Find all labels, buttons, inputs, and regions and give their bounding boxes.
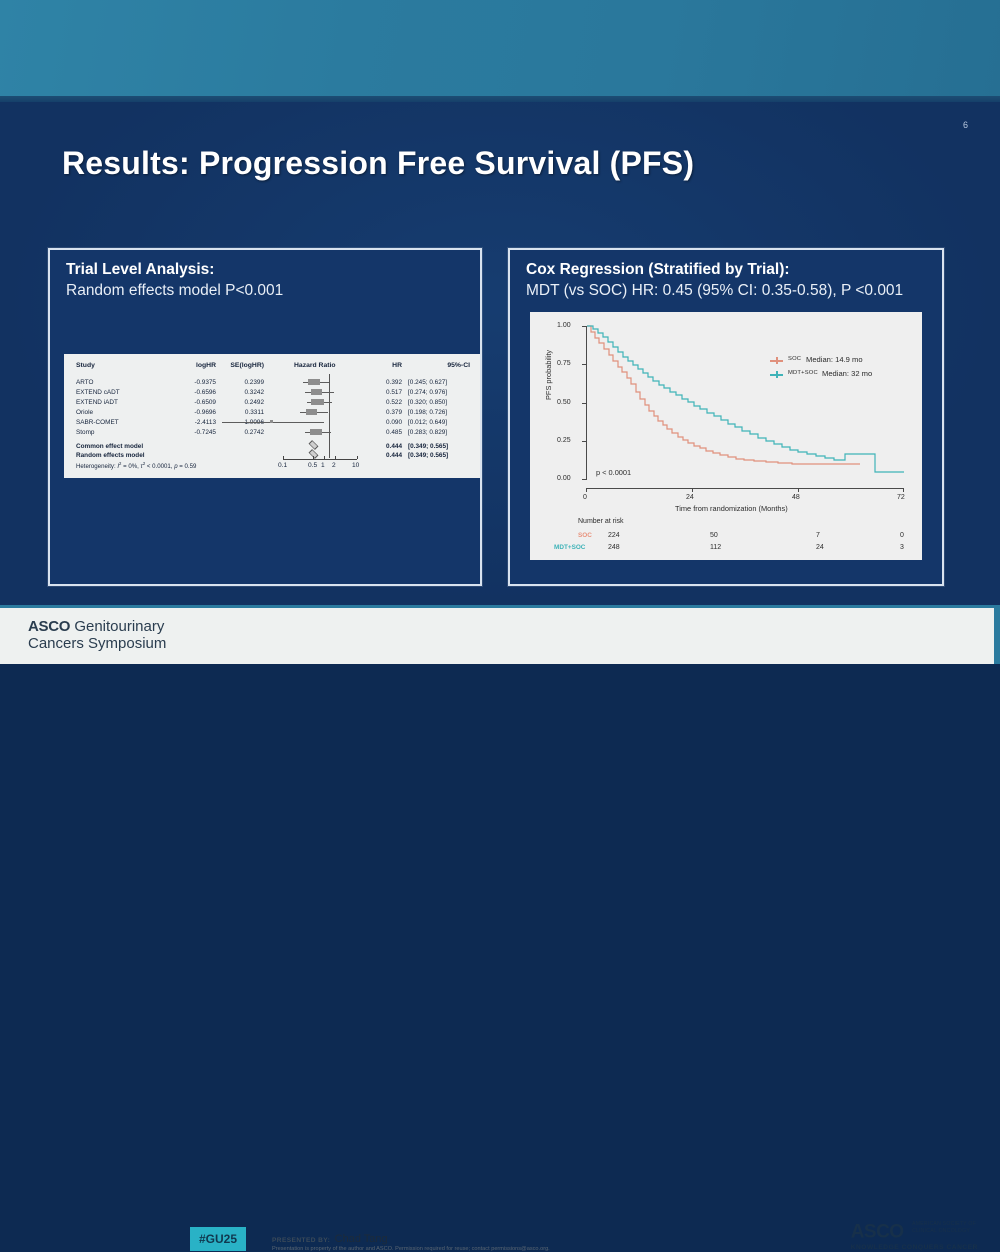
forest-effect-box <box>270 420 273 423</box>
hashtag-badge: #GU25 <box>190 1227 246 1251</box>
forest-row-loghr: -2.4113 <box>180 419 216 426</box>
km-pvalue: p < 0.0001 <box>596 468 631 477</box>
right-panel-heading-line1: Cox Regression (Stratified by Trial): <box>526 260 903 281</box>
forest-row-ci: [0.012; 0.649] <box>408 419 470 426</box>
km-curve-soc <box>587 326 860 464</box>
forest-axis <box>283 459 357 460</box>
right-panel-heading-line2: MDT (vs SOC) HR: 0.45 (95% CI: 0.35-0.58… <box>526 281 903 302</box>
forest-row-ci: [0.320; 0.850] <box>408 399 470 406</box>
forest-header-study: Study <box>76 362 95 369</box>
forest-axis-label: 10 <box>352 462 359 469</box>
forest-summary-label: Common effect model <box>76 443 143 450</box>
risk-row-label-mdt: MDT+SOC <box>554 544 585 551</box>
forest-row-loghr: -0.6596 <box>180 389 216 396</box>
forest-effect-box <box>310 429 322 435</box>
forest-row-loghr: -0.9696 <box>180 409 216 416</box>
forest-row-se: 0.2399 <box>228 379 264 386</box>
forest-row-ci: [0.274; 0.976] <box>408 389 470 396</box>
forest-row-hr: 0.485 <box>372 429 402 436</box>
asco-society-line1: AMERICAN SOCIETY OF <box>912 1221 976 1228</box>
top-banner <box>0 0 1000 100</box>
forest-effect-box <box>311 399 324 405</box>
trial-level-analysis-panel: Trial Level Analysis: Random effects mod… <box>48 248 482 586</box>
forest-axis-tick <box>357 456 358 459</box>
forest-heterogeneity: Heterogeneity: I2 = 0%, τ2 < 0.0001, p =… <box>76 461 196 470</box>
forest-header-se: SE(logHR) <box>228 362 264 369</box>
forest-row-se: 0.2492 <box>228 399 264 406</box>
risk-count-soc: 50 <box>710 532 718 539</box>
forest-axis-tick <box>335 456 336 459</box>
page-title: Results: Progression Free Survival (PFS) <box>62 145 694 182</box>
forest-row-ci: [0.245; 0.627] <box>408 379 470 386</box>
forest-row-hr: 0.392 <box>372 379 402 386</box>
forest-row-loghr: -0.6509 <box>180 399 216 406</box>
legend-median-soc: Median: 14.9 mo <box>806 355 863 364</box>
asco-gu-genitourinary: Genitourinary <box>74 618 164 635</box>
footer-disclaimer: Presentation is property of the author a… <box>272 1246 550 1252</box>
asco-society-line2: CLINICAL ONCOLOGY <box>912 1228 976 1235</box>
risk-count-soc: 224 <box>608 532 620 539</box>
forest-plot: Study logHR SE(logHR) Hazard Ratio HR 95… <box>64 354 480 478</box>
kaplan-meier-inner: 1.00 0.75 0.50 0.25 0.00 PFS probability… <box>530 312 922 560</box>
forest-row-hr: 0.522 <box>372 399 402 406</box>
forest-header-ci: 95%-CI <box>408 362 470 369</box>
forest-row-study: ARTO <box>76 379 94 386</box>
forest-row-study: EXTEND iADT <box>76 399 118 406</box>
forest-row-loghr: -0.7245 <box>180 429 216 436</box>
forest-summary-hr: 0.444 <box>372 452 402 459</box>
asco-society-name: AMERICAN SOCIETY OF CLINICAL ONCOLOGY <box>912 1221 976 1234</box>
forest-summary-ci: [0.349; 0.565] <box>408 443 470 450</box>
left-panel-heading-line2: Random effects model P<0.001 <box>66 281 283 302</box>
forest-graphic: 0.1 0.5 1 2 10 <box>277 360 367 472</box>
forest-row-loghr: -0.9375 <box>180 379 216 386</box>
asco-gu-line2: Cancers Symposium <box>28 636 166 653</box>
left-panel-heading-line1: Trial Level Analysis: <box>66 260 283 281</box>
forest-axis-tick <box>283 456 284 459</box>
forest-axis-tick <box>313 456 314 459</box>
forest-header-hr: HR <box>372 362 402 369</box>
asco-wordmark: ASCO <box>28 618 70 635</box>
risk-count-soc: 7 <box>816 532 820 539</box>
asco-gu-line1: ASCO Genitourinary <box>28 619 166 636</box>
forest-row-se: 0.3242 <box>228 389 264 396</box>
footer-right-edge <box>994 605 1000 664</box>
forest-row-ci: [0.283; 0.829] <box>408 429 470 436</box>
presenter-block: PRESENTED BY: Chad Tang <box>272 1229 388 1247</box>
asco-society-logo: ASCO AMERICAN SOCIETY OF CLINICAL ONCOLO… <box>851 1221 978 1251</box>
heterogeneity-p-value: = 0.59 <box>178 463 197 470</box>
forest-axis-label: 1 <box>321 462 325 469</box>
slide-number: 6 <box>963 120 968 130</box>
risk-table-title: Number at risk <box>578 518 624 525</box>
forest-row-ci: [0.198; 0.726] <box>408 409 470 416</box>
km-curve-mdt <box>587 326 904 472</box>
forest-effect-box <box>308 379 320 385</box>
forest-null-line <box>329 374 330 458</box>
kaplan-meier-plot: 1.00 0.75 0.50 0.25 0.00 PFS probability… <box>530 312 922 560</box>
forest-row-hr: 0.379 <box>372 409 402 416</box>
legend-tick-mdt <box>776 371 778 378</box>
presenter-name: Chad Tang <box>335 1233 388 1245</box>
heterogeneity-tau-value: < 0.0001, <box>145 463 174 470</box>
forest-row-study: EXTEND cADT <box>76 389 120 396</box>
right-panel-heading: Cox Regression (Stratified by Trial): MD… <box>526 260 903 302</box>
slide-footer: ASCO Genitourinary Cancers Symposium #GU… <box>0 605 1000 664</box>
risk-count-soc: 0 <box>900 532 904 539</box>
forest-row-study: SABR-COMET <box>76 419 119 426</box>
legend-label-mdt: MDT+SOC <box>788 370 818 376</box>
heterogeneity-prefix: Heterogeneity: <box>76 463 117 470</box>
forest-axis-label: 0.5 <box>308 462 317 469</box>
forest-plot-inner: Study logHR SE(logHR) Hazard Ratio HR 95… <box>72 360 472 472</box>
slide-root: 6 Results: Progression Free Survival (PF… <box>0 0 1000 664</box>
forest-effect-box <box>311 389 322 395</box>
forest-summary-ci: [0.349; 0.565] <box>408 452 470 459</box>
risk-count-mdt: 112 <box>710 544 721 551</box>
presented-by-label: PRESENTED BY: <box>272 1237 330 1244</box>
asco-gu-logo: ASCO Genitourinary Cancers Symposium <box>28 619 166 653</box>
forest-row-se: 0.3311 <box>228 409 264 416</box>
forest-summary-diamond <box>309 440 319 450</box>
heterogeneity-i2-value: = 0%, <box>121 463 140 470</box>
legend-label-soc: SOC <box>788 356 801 362</box>
forest-ci-line <box>222 422 324 423</box>
risk-count-mdt: 3 <box>900 544 904 551</box>
legend-tick-soc <box>776 357 778 364</box>
forest-row-hr: 0.517 <box>372 389 402 396</box>
forest-header-loghr: logHR <box>180 362 216 369</box>
asco-logo-wordmark: ASCO <box>851 1222 904 1243</box>
forest-row-study: Stomp <box>76 429 94 436</box>
risk-row-label-soc: SOC <box>578 532 592 539</box>
forest-axis-tick <box>324 456 325 459</box>
risk-count-mdt: 24 <box>816 544 824 551</box>
forest-axis-label: 0.1 <box>278 462 287 469</box>
forest-row-se: 0.2742 <box>228 429 264 436</box>
forest-effect-box <box>306 409 317 415</box>
forest-row-study: Oriole <box>76 409 93 416</box>
left-panel-heading: Trial Level Analysis: Random effects mod… <box>66 260 283 302</box>
forest-summary-hr: 0.444 <box>372 443 402 450</box>
legend-median-mdt: Median: 32 mo <box>822 369 872 378</box>
forest-axis-label: 2 <box>332 462 336 469</box>
forest-row-hr: 0.090 <box>372 419 402 426</box>
cox-regression-panel: Cox Regression (Stratified by Trial): MD… <box>508 248 944 586</box>
asco-tagline: KNOWLEDGE CONQUERS CANCER <box>851 1244 978 1251</box>
asco-society-top: ASCO AMERICAN SOCIETY OF CLINICAL ONCOLO… <box>851 1221 978 1244</box>
risk-count-mdt: 248 <box>608 544 620 551</box>
forest-summary-label: Random effects model <box>76 452 145 459</box>
footer-top-rule <box>0 605 1000 608</box>
